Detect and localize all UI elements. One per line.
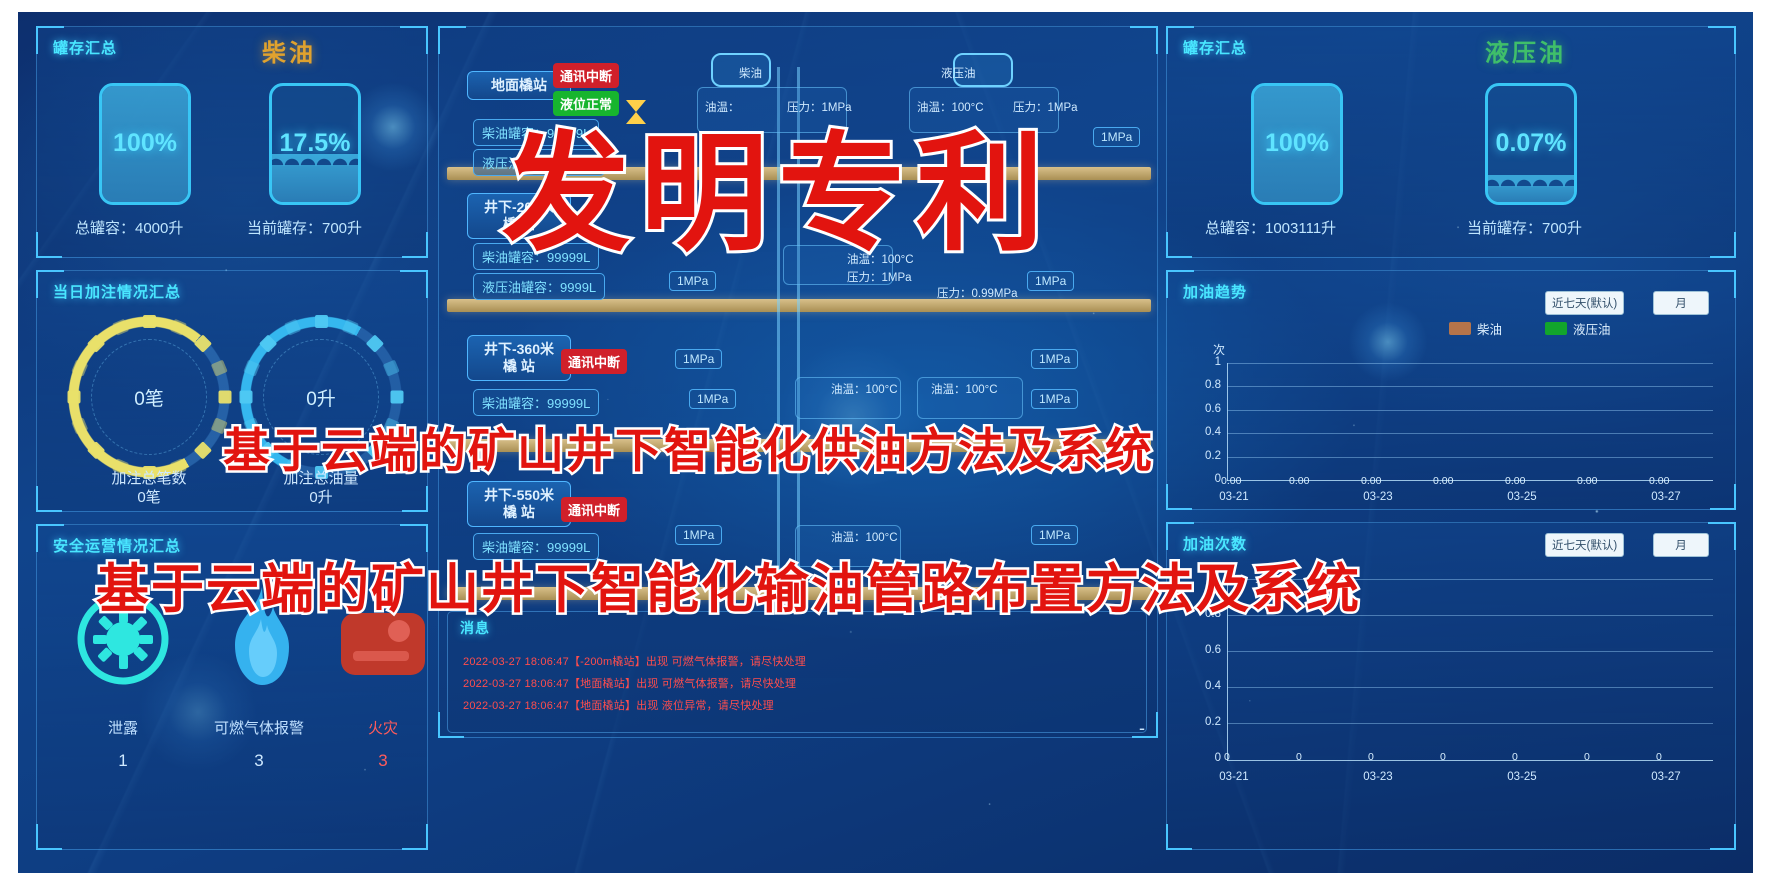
count-ytick-06: 0.6	[1195, 644, 1221, 656]
trend-point-label-1: 0.00	[1289, 475, 1309, 487]
device-label-360m-b-temp: 油温：100°C	[931, 381, 998, 397]
station-name-360m[interactable]: 井下-360米 橇 站	[467, 335, 571, 381]
panel-left-tank-summary: 罐存汇总 柴油 100% 17.5% 总罐容：4000升 当前罐存：700升	[36, 26, 428, 258]
count-ytick-02: 0.2	[1195, 716, 1221, 728]
panel-title-refuel-trend: 加油趋势	[1183, 281, 1247, 302]
trend-point-label-5: 0.00	[1577, 475, 1597, 487]
count-point-label-4: 0	[1512, 751, 1518, 763]
safety-label-fire: 火灾	[343, 717, 423, 738]
legend-swatch-diesel	[1449, 322, 1471, 335]
minimize-button[interactable]: -	[1139, 723, 1145, 733]
tank-current-hydraulic: 0.07%	[1485, 83, 1577, 205]
count-gridline-04	[1227, 687, 1713, 688]
count-point-label-5: 0	[1584, 751, 1590, 763]
gauge-caption-count-l1: 加注总笔数	[111, 470, 186, 487]
gauge-value-count: 0笔	[61, 309, 237, 485]
pressure-tag-360m-d: 1MPa	[1031, 389, 1078, 409]
count-point-label-6: 0	[1656, 751, 1662, 763]
safety-count-gas: 3	[189, 751, 329, 771]
pressure-tag-360m-c: 1MPa	[689, 389, 736, 409]
count-ytick-0: 0	[1195, 752, 1221, 764]
trend-xtick-0323: 03-23	[1355, 491, 1401, 503]
count-xtick-0321: 03-21	[1211, 771, 1257, 783]
panel-title-daily-refuel: 当日加注情况汇总	[53, 281, 181, 302]
device-label-surface-hyd-name: 液压油	[941, 65, 976, 81]
legend-label-diesel: 柴油	[1477, 319, 1502, 338]
pressure-tag-550m-b: 1MPa	[675, 525, 722, 545]
station-cap-200m-hyd: 液压油罐容：9999L	[473, 273, 605, 300]
tank-wave-current-hyd	[1485, 175, 1577, 187]
station-badge-surface-comm: 通讯中断	[553, 63, 619, 88]
tank-current-diesel: 17.5%	[269, 83, 361, 205]
count-point-label-0: 0	[1224, 751, 1230, 763]
count-gridline-06	[1227, 651, 1713, 652]
trend-xtick-0325: 03-25	[1499, 491, 1545, 503]
safety-label-gas: 可燃气体报警	[189, 717, 329, 738]
watermark-patent-title: 发明专利	[502, 90, 1054, 275]
tank-percent-current-hyd: 0.07%	[1485, 129, 1577, 158]
count-point-label-2: 0	[1368, 751, 1374, 763]
pressure-tag-550m-a: 1MPa	[1031, 525, 1078, 545]
fuel-name-diesel: 柴油	[262, 33, 316, 68]
trend-range-month-button[interactable]: 月	[1653, 291, 1709, 315]
count-xtick-0327: 03-27	[1643, 771, 1689, 783]
message-row-3: 2022-03-27 18:06:47【地面橇站】出现 液位异常，请尽快处理	[463, 697, 774, 713]
count-point-label-3: 0	[1440, 751, 1446, 763]
trend-gridline-04	[1227, 433, 1713, 434]
trend-plot-area: 1 0.8 0.6 0.4 0.2 0 0.00 0.00 0.00 0.00 …	[1227, 363, 1713, 481]
tank-total-hydraulic: 100%	[1251, 83, 1343, 205]
panel-title-right-tank: 罐存汇总	[1183, 37, 1247, 58]
watermark-line-2: 基于云端的矿山井下智能化输油管路布置方法及系统	[96, 547, 1361, 623]
count-range-month-button[interactable]: 月	[1653, 533, 1709, 557]
panel-refuel-trend: 加油趋势 近七天(默认) 月 柴油 液压油 次 1	[1166, 270, 1736, 510]
fuel-name-hydraulic: 液压油	[1485, 33, 1566, 68]
station-name-550m[interactable]: 井下-550米 橇 站	[467, 481, 571, 527]
trend-ytick-08: 0.8	[1195, 379, 1221, 391]
trend-gridline-02	[1227, 457, 1713, 458]
safety-count-leak: 1	[83, 751, 163, 771]
message-row-2: 2022-03-27 18:06:47【地面橇站】出现 可燃气体报警，请尽快处理	[463, 675, 796, 691]
trend-ytick-06: 0.6	[1195, 403, 1221, 415]
trend-ytick-1: 1	[1195, 356, 1221, 368]
tank-fill-current-hyd	[1488, 186, 1574, 202]
trend-y-axis-line	[1227, 363, 1228, 481]
panel-right-tank-summary: 罐存汇总 液压油 100% 0.07% 总罐容：1003111升 当前罐存：70…	[1166, 26, 1736, 258]
gauge-caption-count-l2: 0笔	[137, 489, 160, 506]
trend-ytick-04: 0.4	[1195, 426, 1221, 438]
trend-range-default-button[interactable]: 近七天(默认)	[1545, 291, 1624, 315]
trend-ytick-02: 0.2	[1195, 450, 1221, 462]
safety-label-leak: 泄露	[83, 717, 163, 738]
device-label-550m-temp: 油温：100°C	[831, 529, 898, 545]
legend-swatch-hydraulic	[1545, 322, 1567, 335]
watermark-line-1: 基于云端的矿山井下智能化供油方法及系统	[223, 412, 1154, 481]
legend-item-diesel[interactable]: 柴油	[1449, 319, 1502, 338]
trend-gridline-06	[1227, 410, 1713, 411]
trend-point-label-3: 0.00	[1433, 475, 1453, 487]
trend-ytick-0: 0	[1195, 473, 1221, 485]
count-range-default-button[interactable]: 近七天(默认)	[1545, 533, 1624, 557]
gauge-caption-volume-l2: 0升	[309, 489, 332, 506]
label-total-capacity-diesel: 总罐容：4000升	[75, 217, 183, 238]
trend-point-label-4: 0.00	[1505, 475, 1525, 487]
label-current-stock-hyd: 当前罐存：700升	[1467, 217, 1582, 238]
label-current-stock-diesel: 当前罐存：700升	[247, 217, 362, 238]
message-board: 消息	[447, 611, 1147, 733]
count-ytick-04: 0.4	[1195, 680, 1221, 692]
safety-count-fire: 3	[343, 751, 423, 771]
trend-xtick-0321: 03-21	[1211, 491, 1257, 503]
tank-fill-current	[272, 165, 358, 202]
count-point-label-1: 0	[1296, 751, 1302, 763]
device-label-200m-press2: 压力：0.99MPa	[937, 285, 1018, 301]
trend-gridline-1	[1227, 363, 1713, 364]
dashboard-screen: 罐存汇总 柴油 100% 17.5% 总罐容：4000升 当前罐存：700升	[18, 12, 1753, 873]
device-label-surface-diesel-name: 柴油	[739, 65, 762, 81]
dashboard-root: 罐存汇总 柴油 100% 17.5% 总罐容：4000升 当前罐存：700升	[0, 0, 1771, 885]
device-label-360m-a-temp: 油温：100°C	[831, 381, 898, 397]
count-gridline-02	[1227, 723, 1713, 724]
station-badge-360m-comm: 通讯中断	[561, 349, 627, 374]
legend-label-hydraulic: 液压油	[1573, 319, 1611, 338]
trend-point-label-2: 0.00	[1361, 475, 1381, 487]
pressure-tag-360m-a: 1MPa	[675, 349, 722, 369]
legend-item-hydraulic[interactable]: 液压油	[1545, 319, 1611, 338]
trend-point-label-0: 0.00	[1221, 475, 1241, 487]
pressure-tag-360m-b: 1MPa	[1031, 349, 1078, 369]
trend-xtick-0327: 03-27	[1643, 491, 1689, 503]
count-xtick-0325: 03-25	[1499, 771, 1545, 783]
tank-percent-current: 17.5%	[269, 129, 361, 158]
count-xtick-0323: 03-23	[1355, 771, 1401, 783]
gauge-refuel-count: 0笔	[61, 309, 237, 485]
message-row-1: 2022-03-27 18:06:47【-200m橇站】出现 可燃气体报警，请尽…	[463, 653, 806, 669]
pressure-tag-surface-right: 1MPa	[1093, 127, 1140, 147]
gauge-caption-count: 加注总笔数 0笔	[89, 469, 209, 507]
station-badge-550m-comm: 通讯中断	[561, 497, 627, 522]
trend-point-label-6: 0.00	[1649, 475, 1669, 487]
trend-gridline-08	[1227, 386, 1713, 387]
panel-title-left-tank: 罐存汇总	[53, 37, 117, 58]
label-total-capacity-hyd: 总罐容：1003111升	[1205, 217, 1336, 238]
tank-percent-total: 100%	[99, 129, 191, 158]
tank-percent-total-hyd: 100%	[1251, 129, 1343, 158]
tank-total-diesel: 100%	[99, 83, 191, 205]
